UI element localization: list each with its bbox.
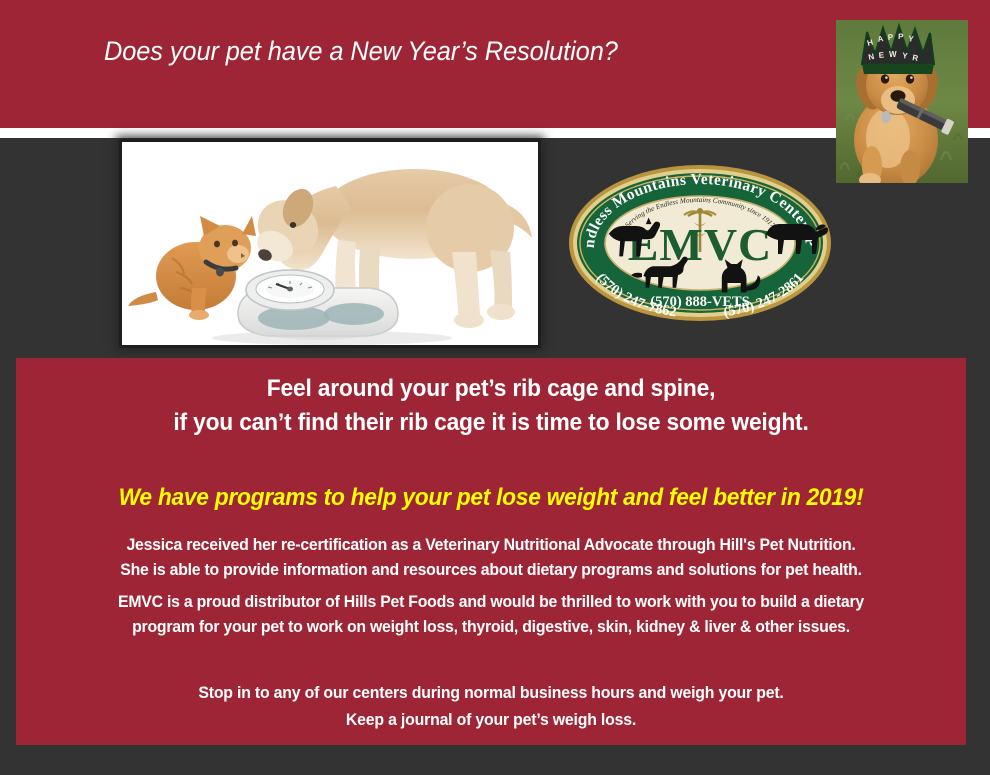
paragraph-jessica: Jessica received her re-certification as…	[35, 533, 947, 583]
svg-text:W: W	[889, 50, 897, 59]
new-year-dog-illustration: H A P P Y N E W Y R	[836, 20, 968, 183]
paragraph-jessica-line-1: Jessica received her re-certification as…	[35, 533, 947, 558]
svg-text:P: P	[898, 32, 904, 41]
headline-line-1: Feel around your pet’s rib cage and spin…	[40, 372, 943, 406]
closing-line-2: Keep a journal of your pet’s weigh loss.	[35, 707, 947, 734]
page-title: Does your pet have a New Year’s Resoluti…	[104, 36, 762, 67]
poster-canvas: Does your pet have a New Year’s Resoluti…	[0, 0, 990, 775]
cat-and-dog-on-scale-illustration	[122, 142, 538, 345]
paragraph-emvc-line-1: EMVC is a proud distributor of Hills Pet…	[35, 590, 947, 615]
pet-weigh-in-photo	[122, 142, 538, 345]
paragraph-emvc: EMVC is a proud distributor of Hills Pet…	[35, 590, 947, 640]
closing-line-1: Stop in to any of our centers during nor…	[35, 680, 947, 707]
new-year-dog-photo: H A P P Y N E W Y R	[836, 20, 968, 183]
closing-block: Stop in to any of our centers during nor…	[35, 680, 947, 734]
promo-highlight: We have programs to help your pet lose w…	[49, 484, 933, 512]
emvc-logo-graphic: Endless Mountains Veterinary Center, PC …	[568, 164, 832, 321]
content-panel: Feel around your pet’s rib cage and spin…	[16, 358, 966, 745]
paragraph-emvc-line-2: program for your pet to work on weight l…	[35, 615, 947, 640]
headline-line-2: if you can’t find their rib cage it is t…	[40, 406, 943, 440]
emvc-logo: Endless Mountains Veterinary Center, PC …	[568, 164, 832, 321]
logo-monogram: EMVC	[628, 219, 773, 270]
headline-block: Feel around your pet’s rib cage and spin…	[40, 372, 943, 440]
paragraph-jessica-line-2: She is able to provide information and r…	[35, 558, 947, 583]
